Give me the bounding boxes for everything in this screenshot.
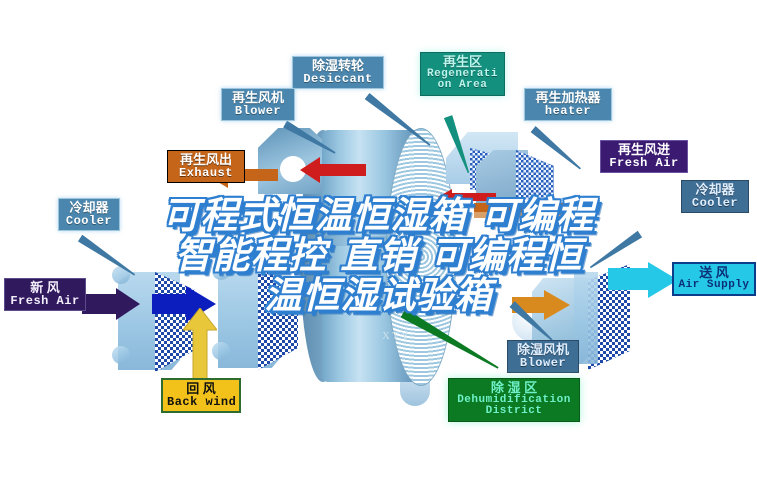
label-fresh-air-in[interactable]: 新 风 Fresh Air bbox=[4, 278, 86, 311]
label-regeneration-blower[interactable]: 再生风机 Blower bbox=[221, 88, 295, 121]
label-regeneration-blower-en: Blower bbox=[226, 105, 290, 118]
back-wind-arrow bbox=[183, 308, 217, 380]
regeneration-heater-base-shadow bbox=[474, 212, 594, 218]
label-air-supply-cn: 送 风 bbox=[678, 266, 750, 280]
label-dehumidification-district[interactable]: 除 湿 区 Dehumidification District bbox=[448, 378, 580, 422]
label-cooler-right-en: Cooler bbox=[686, 197, 744, 210]
diagram-canvas: XTY bbox=[0, 0, 757, 488]
label-regeneration-fresh-air-in-cn: 再生风进 bbox=[605, 143, 683, 157]
leader-cooler-left bbox=[78, 235, 137, 279]
label-regeneration-exhaust[interactable]: 再生风出 Exhaust bbox=[167, 150, 245, 183]
label-dehumidification-blower[interactable]: 除湿风机 Blower bbox=[507, 340, 579, 373]
rotor-band-shadow bbox=[322, 236, 420, 246]
label-regeneration-heater[interactable]: 再生加热器 heater bbox=[524, 88, 612, 121]
regeneration-hot-arrow bbox=[300, 156, 366, 184]
label-cooler-left-cn: 冷却器 bbox=[63, 201, 115, 215]
label-cooler-right[interactable]: 冷却器 Cooler bbox=[681, 180, 749, 213]
watermark-text: XTY bbox=[382, 330, 411, 342]
label-desiccant-rotor-cn: 除湿转轮 bbox=[297, 59, 379, 73]
label-regeneration-area[interactable]: 再生区 Regenerati on Area bbox=[420, 52, 505, 96]
label-desiccant-rotor[interactable]: 除湿转轮 Desiccant bbox=[292, 56, 384, 89]
label-dehumidification-district-cn: 除 湿 区 bbox=[453, 381, 575, 395]
label-regeneration-exhaust-en: Exhaust bbox=[172, 167, 240, 180]
regen-red-small-arrow bbox=[438, 188, 496, 206]
label-fresh-air-in-cn: 新 风 bbox=[9, 281, 81, 295]
label-back-wind-en: Back wind bbox=[167, 396, 235, 409]
air-supply-arrow bbox=[608, 262, 678, 298]
label-desiccant-rotor-en: Desiccant bbox=[297, 73, 379, 86]
label-dehumidification-blower-cn: 除湿风机 bbox=[512, 343, 574, 357]
label-regeneration-heater-cn: 再生加热器 bbox=[529, 91, 607, 105]
label-cooler-right-cn: 冷却器 bbox=[686, 183, 744, 197]
label-fresh-air-in-en: Fresh Air bbox=[9, 295, 81, 308]
label-dehumidification-blower-en: Blower bbox=[512, 357, 574, 370]
label-regeneration-heater-en: heater bbox=[529, 105, 607, 118]
label-regeneration-fresh-air-in-en: Fresh Air bbox=[605, 157, 683, 170]
label-regeneration-fresh-air-in[interactable]: 再生风进 Fresh Air bbox=[600, 140, 688, 173]
label-cooler-left-en: Cooler bbox=[63, 215, 115, 228]
label-air-supply[interactable]: 送 风 Air Supply bbox=[672, 262, 756, 296]
label-regeneration-exhaust-cn: 再生风出 bbox=[172, 153, 240, 167]
label-regeneration-area-en2: on Area bbox=[425, 80, 500, 92]
machine-mid-coil-mesh bbox=[258, 268, 298, 370]
label-dehumidification-district-en2: District bbox=[453, 406, 575, 418]
label-back-wind[interactable]: 回 风 Back wind bbox=[161, 378, 241, 413]
label-cooler-left[interactable]: 冷却器 Cooler bbox=[58, 198, 120, 231]
fresh-air-arrow bbox=[82, 288, 140, 320]
desiccant-rotor-face bbox=[386, 128, 456, 386]
label-regeneration-blower-cn: 再生风机 bbox=[226, 91, 290, 105]
label-back-wind-cn: 回 风 bbox=[167, 382, 235, 396]
regeneration-heater-mesh bbox=[516, 150, 554, 206]
label-regeneration-area-cn: 再生区 bbox=[425, 55, 500, 69]
label-air-supply-en: Air Supply bbox=[678, 280, 750, 292]
